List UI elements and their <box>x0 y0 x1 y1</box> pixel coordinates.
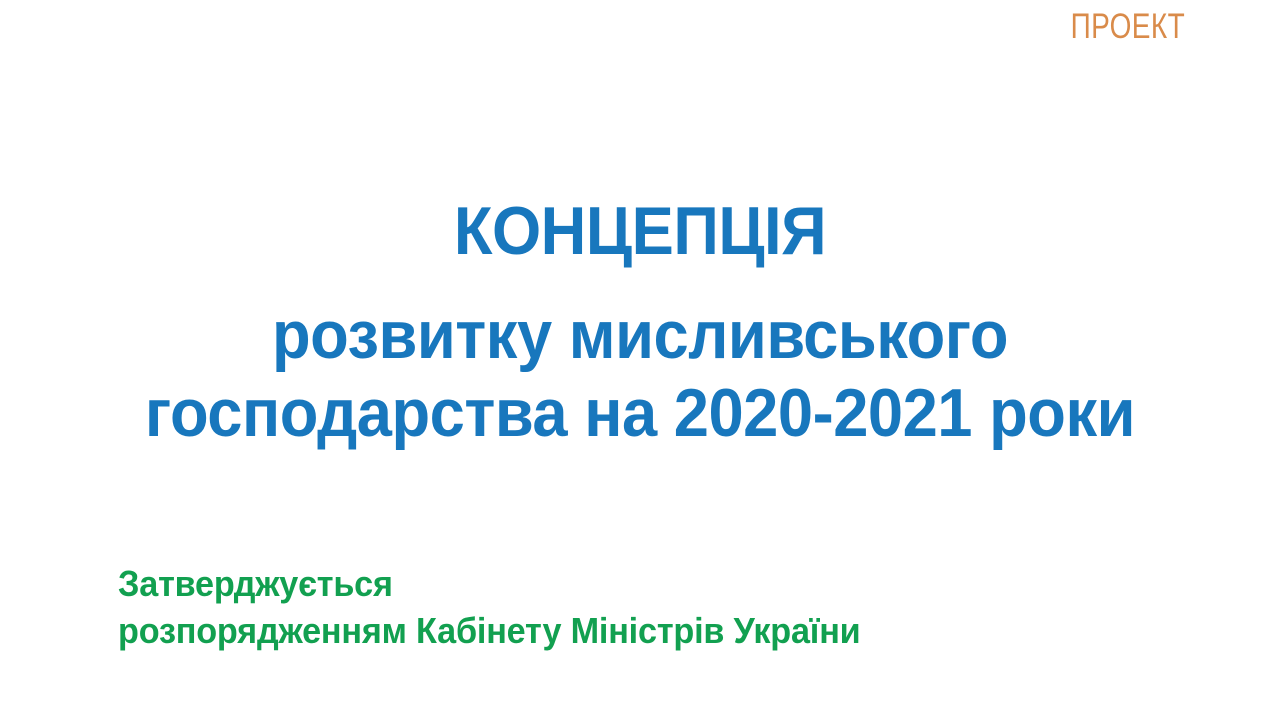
approval-note-line-1: Затверджується <box>118 560 861 607</box>
approval-note-line-2: розпорядженням Кабінету Міністрів Україн… <box>118 607 861 654</box>
page-title-line-1: КОНЦЕПЦІЯ <box>45 192 1235 270</box>
draft-status-label: ПРОЕКТ <box>1071 8 1185 47</box>
presentation-slide: ПРОЕКТ КОНЦЕПЦІЯ розвитку мисливського г… <box>0 0 1280 720</box>
slide-title-block: КОНЦЕПЦІЯ розвитку мисливського господар… <box>0 192 1280 452</box>
page-title-line-3: господарства на 2020-2021 роки <box>45 374 1235 452</box>
approval-note-block: Затверджується розпорядженням Кабінету М… <box>118 560 900 654</box>
page-title-line-2: розвитку мисливського <box>45 296 1235 374</box>
